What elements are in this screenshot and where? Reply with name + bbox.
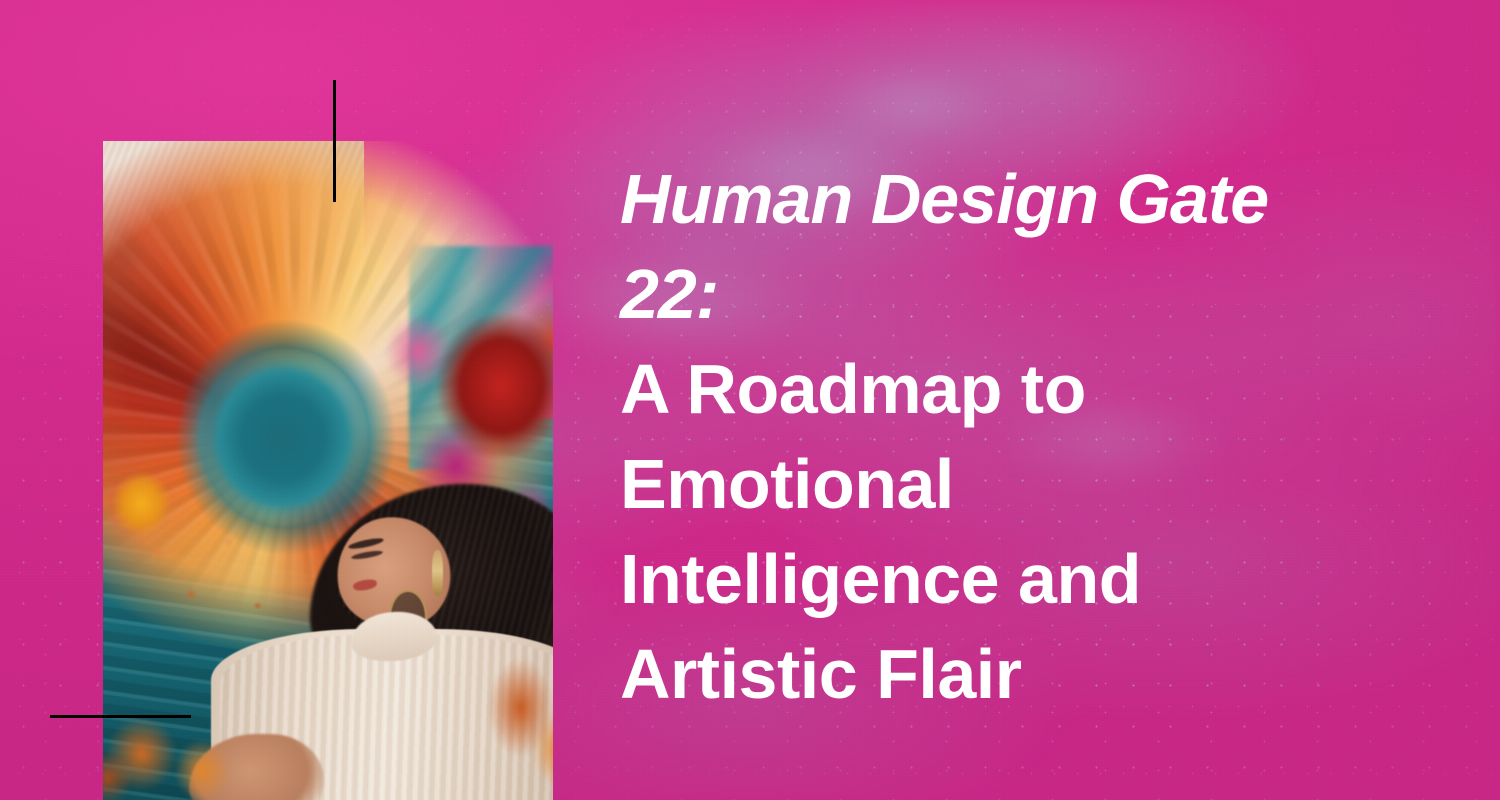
title-line-4: Emotional bbox=[620, 437, 1410, 532]
photo-grain bbox=[103, 141, 553, 800]
title-line-3: A Roadmap to bbox=[620, 342, 1410, 437]
title-line-6: Artistic Flair bbox=[620, 627, 1410, 722]
vertical-black-rule bbox=[333, 80, 336, 202]
hero-photo bbox=[103, 141, 553, 800]
hero-photo-artwork bbox=[103, 141, 553, 800]
horizontal-black-rule bbox=[50, 715, 191, 718]
title-line-5: Intelligence and bbox=[620, 532, 1410, 627]
page-title: Human Design Gate 22: A Roadmap to Emoti… bbox=[620, 152, 1410, 722]
banner-canvas: Human Design Gate 22: A Roadmap to Emoti… bbox=[0, 0, 1500, 800]
title-line-2: 22: bbox=[620, 247, 1410, 342]
title-line-1: Human Design Gate bbox=[620, 152, 1410, 247]
